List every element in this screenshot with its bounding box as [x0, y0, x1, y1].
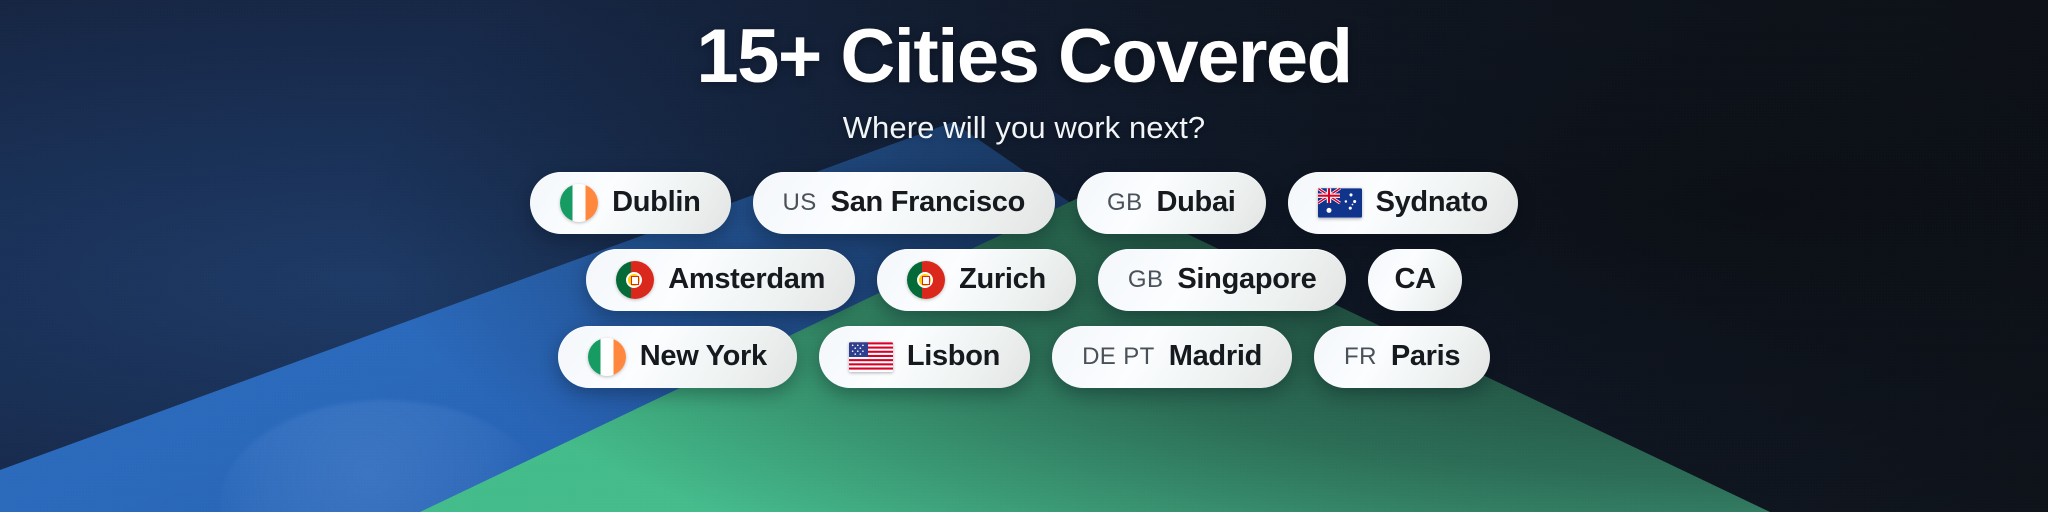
city-chip-madrid[interactable]: DE PTMadrid	[1052, 326, 1292, 388]
city-chip-ca[interactable]: CA	[1368, 249, 1461, 311]
city-chip-amsterdam[interactable]: Amsterdam	[586, 249, 855, 311]
flag-usa-icon	[849, 342, 893, 372]
city-chip-grid: DublinUSSan FranciscoGBDubaiSydnatoAmste…	[530, 172, 1518, 388]
city-chip-label: Madrid	[1169, 340, 1262, 373]
city-chip-label: Dubai	[1157, 186, 1236, 219]
city-chip-san-francisco[interactable]: USSan Francisco	[753, 172, 1055, 234]
city-chip-country-code: DE PT	[1082, 343, 1155, 371]
city-chip-label: San Francisco	[831, 186, 1025, 219]
page-title: 15+ Cities Covered	[696, 18, 1351, 96]
flag-australia-icon	[1318, 188, 1362, 218]
city-chip-label: Sydnato	[1376, 186, 1488, 219]
city-chip-label: Lisbon	[907, 340, 1000, 373]
city-chip-label: Zurich	[959, 263, 1046, 296]
city-chip-label: New York	[640, 340, 767, 373]
city-chip-new-york[interactable]: New York	[558, 326, 797, 388]
flag-ireland-icon	[560, 184, 598, 222]
flag-portugal-icon	[907, 261, 945, 299]
city-chip-label: Paris	[1391, 340, 1460, 373]
city-chip-dubai[interactable]: GBDubai	[1077, 172, 1266, 234]
city-chip-country-code: GB	[1128, 266, 1163, 294]
city-chip-lisbon[interactable]: Lisbon	[819, 326, 1030, 388]
city-chip-singapore[interactable]: GBSingapore	[1098, 249, 1347, 311]
city-chip-country-code: GB	[1107, 189, 1142, 217]
city-chip-label: Singapore	[1177, 263, 1316, 296]
city-chip-paris[interactable]: FRParis	[1314, 326, 1490, 388]
page-subtitle: Where will you work next?	[843, 110, 1206, 146]
hero-content: 15+ Cities Covered Where will you work n…	[0, 0, 2048, 512]
city-chip-label: Dublin	[612, 186, 700, 219]
city-chip-sydnato[interactable]: Sydnato	[1288, 172, 1518, 234]
city-chip-country-code: US	[783, 189, 817, 217]
flag-portugal-icon	[616, 261, 654, 299]
city-chip-zurich[interactable]: Zurich	[877, 249, 1076, 311]
city-chip-dublin[interactable]: Dublin	[530, 172, 730, 234]
flag-ireland-icon	[588, 338, 626, 376]
city-chip-row: New YorkLisbonDE PTMadridFRParis	[558, 326, 1491, 388]
city-chip-label: Amsterdam	[668, 263, 825, 296]
city-chip-row: AmsterdamZurichGBSingaporeCA	[586, 249, 1462, 311]
city-chip-row: DublinUSSan FranciscoGBDubaiSydnato	[530, 172, 1518, 234]
city-chip-label: CA	[1394, 263, 1435, 296]
hero-banner: 15+ Cities Covered Where will you work n…	[0, 0, 2048, 512]
city-chip-country-code: FR	[1344, 343, 1377, 371]
